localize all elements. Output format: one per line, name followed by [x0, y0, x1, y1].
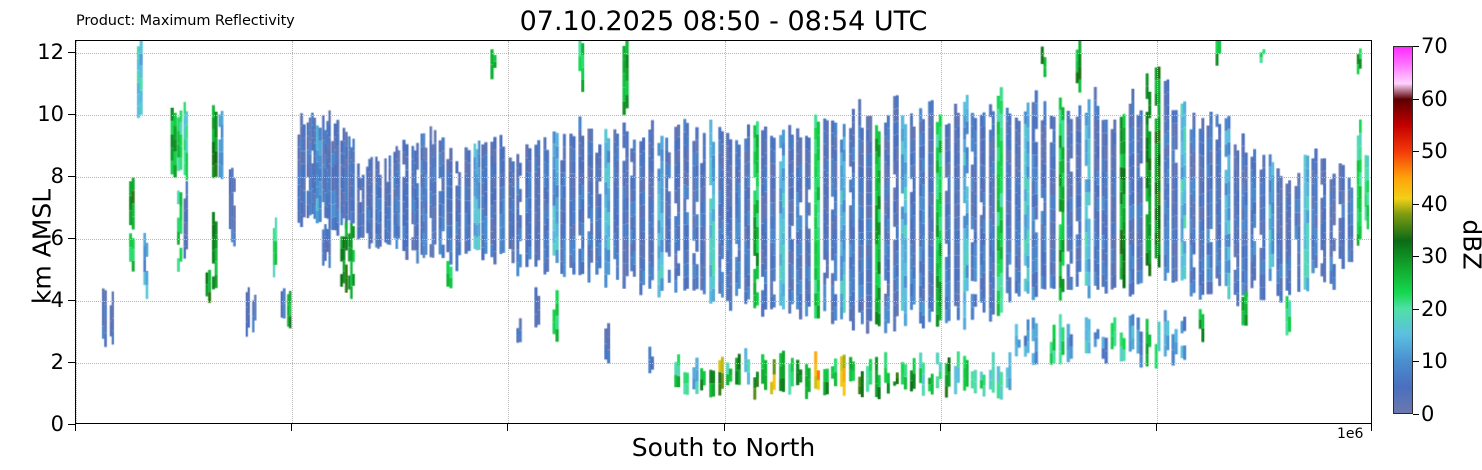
colorbar-tick-mark [1413, 204, 1419, 205]
y-tick-label: 2 [51, 350, 64, 374]
plot-area[interactable] [75, 40, 1372, 424]
y-tick-mark [68, 176, 75, 177]
x-tick-mark [940, 424, 941, 431]
colorbar-tick-label: 10 [1421, 349, 1448, 373]
colorbar-tick-mark [1413, 361, 1419, 362]
colorbar-tick-mark [1413, 256, 1419, 257]
y-tick-label: 4 [51, 288, 64, 312]
y-tick-label: 0 [51, 412, 64, 436]
x-axis-offset-text: 1e6 [1337, 426, 1363, 442]
y-tick-mark [68, 114, 75, 115]
colorbar-tick-label: 20 [1421, 297, 1448, 321]
y-tick-mark [68, 238, 75, 239]
colorbar-tick-label: 0 [1421, 402, 1434, 426]
colorbar-tick-label: 30 [1421, 244, 1448, 268]
colorbar-tick-mark [1413, 309, 1419, 310]
colorbar-tick-label: 70 [1421, 34, 1448, 58]
colorbar-tick-mark [1413, 46, 1419, 47]
y-tick-mark [68, 52, 75, 53]
x-tick-mark [75, 424, 76, 431]
colorbar-gradient [1394, 47, 1412, 413]
y-tick-mark [68, 300, 75, 301]
y-tick-mark [68, 362, 75, 363]
colorbar-label: dBZ [1458, 165, 1482, 325]
x-tick-mark [1371, 424, 1372, 431]
colorbar-tick-mark [1413, 99, 1419, 100]
y-tick-label: 8 [51, 164, 64, 188]
colorbar-tick-label: 40 [1421, 192, 1448, 216]
y-tick-label: 10 [37, 102, 64, 126]
figure-canvas: Product: Maximum Reflectivity 07.10.2025… [0, 0, 1482, 470]
y-tick-label: 6 [51, 226, 64, 250]
colorbar-tick-label: 50 [1421, 139, 1448, 163]
colorbar [1393, 46, 1413, 414]
page-title: 07.10.2025 08:50 - 08:54 UTC [75, 6, 1372, 37]
reflectivity-heatmap [76, 41, 1371, 423]
colorbar-tick-label: 60 [1421, 87, 1448, 111]
x-tick-mark [724, 424, 725, 431]
colorbar-tick-mark [1413, 414, 1419, 415]
x-tick-mark [507, 424, 508, 431]
y-tick-label: 12 [37, 40, 64, 64]
y-tick-mark [68, 424, 75, 425]
x-tick-mark [291, 424, 292, 431]
x-tick-mark [1156, 424, 1157, 431]
colorbar-tick-mark [1413, 151, 1419, 152]
x-axis-label: South to North [75, 433, 1372, 462]
